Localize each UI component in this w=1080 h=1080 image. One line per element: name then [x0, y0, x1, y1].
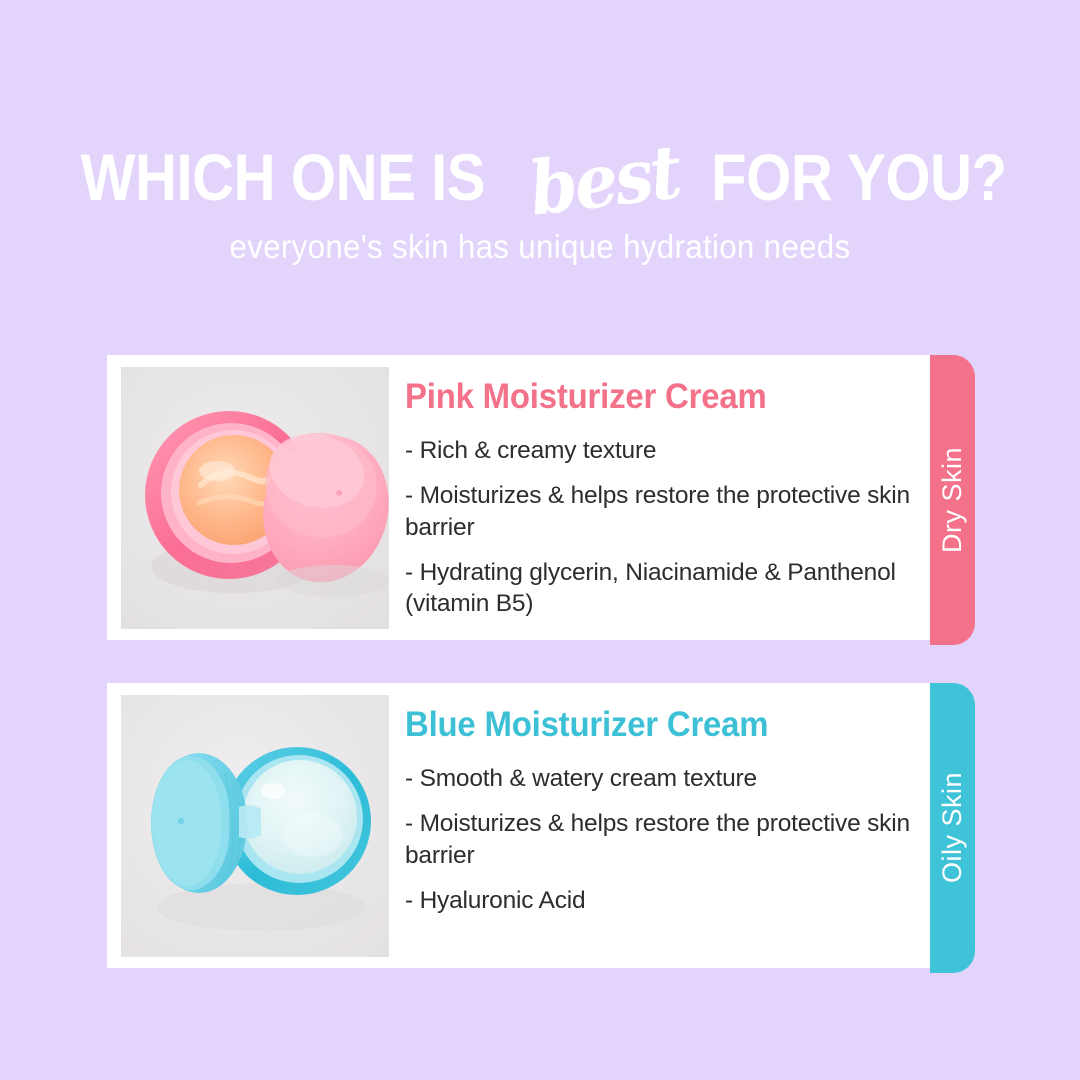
- headline-script-word: best: [525, 135, 683, 227]
- card-body-blue: Blue Moisturizer Cream - Smooth & watery…: [107, 683, 930, 968]
- bullet-item: - Rich & creamy texture: [405, 435, 914, 466]
- product-photo-blue: [121, 695, 389, 957]
- product-card-pink[interactable]: Pink Moisturizer Cream - Rich & creamy t…: [107, 355, 975, 640]
- skin-type-tab-oily-label: Oily Skin: [937, 772, 968, 883]
- product-photo-pink: [121, 367, 389, 629]
- headline-text-before: WHICH ONE IS: [81, 144, 486, 210]
- bullet-item: - Hydrating glycerin, Niacinamide & Pant…: [405, 557, 914, 620]
- product-title-pink: Pink Moisturizer Cream: [405, 377, 883, 417]
- header: WHICH ONE ISbestFOR YOU? everyone's skin…: [0, 0, 1080, 300]
- product-card-blue[interactable]: Blue Moisturizer Cream - Smooth & watery…: [107, 683, 975, 968]
- product-title-blue: Blue Moisturizer Cream: [405, 705, 883, 745]
- headline-text-after: FOR YOU?: [711, 144, 1007, 210]
- skin-type-tab-oily[interactable]: Oily Skin: [930, 683, 975, 973]
- skin-type-tab-dry[interactable]: Dry Skin: [930, 355, 975, 645]
- card-text-pink: Pink Moisturizer Cream - Rich & creamy t…: [405, 377, 914, 620]
- bullet-item: - Moisturizes & helps restore the protec…: [405, 480, 914, 543]
- pink-jar-illustration: [121, 367, 389, 629]
- blue-jar-illustration: [121, 695, 389, 957]
- bullet-item: - Moisturizes & helps restore the protec…: [405, 808, 914, 871]
- bullet-item: - Smooth & watery cream texture: [405, 763, 914, 794]
- card-body-pink: Pink Moisturizer Cream - Rich & creamy t…: [107, 355, 930, 640]
- bullet-item: - Hyaluronic Acid: [405, 885, 914, 916]
- page-headline: WHICH ONE ISbestFOR YOU?: [0, 140, 1080, 214]
- page-subtitle: everyone's skin has unique hydration nee…: [27, 228, 1053, 266]
- card-text-blue: Blue Moisturizer Cream - Smooth & watery…: [405, 705, 914, 916]
- skin-type-tab-dry-label: Dry Skin: [937, 447, 968, 553]
